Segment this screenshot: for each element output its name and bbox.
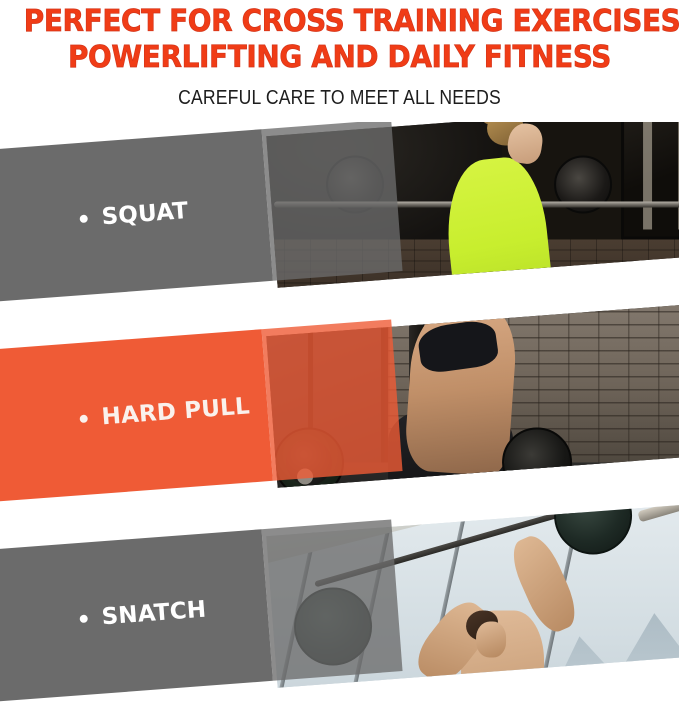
athlete-head-decor	[476, 622, 506, 658]
label-band-squat: SQUAT	[0, 122, 403, 302]
bullet-dot-icon	[79, 415, 88, 424]
feature-row-squat: SQUAT	[0, 122, 679, 322]
label-band-hard-pull: HARD PULL	[0, 319, 403, 501]
bullet-dot-icon	[79, 215, 88, 224]
subheadline: CAREFUL CARE TO MEET ALL NEEDS	[41, 74, 639, 110]
feature-row-hard-pull: HARD PULL	[0, 322, 679, 522]
feature-row-snatch: SNATCH	[0, 522, 679, 722]
athlete-legs-decor	[450, 274, 533, 288]
headline-line-2: POWERLIFTING AND DAILY FITNESS	[24, 38, 655, 74]
header: PERFECT FOR CROSS TRAINING EXERCISES POW…	[0, 0, 679, 122]
feature-rows: SQUAT	[0, 122, 679, 722]
headline-line-1: PERFECT FOR CROSS TRAINING EXERCISES	[24, 0, 655, 38]
band-translucent-fill	[262, 319, 403, 480]
bullet-dot-icon	[79, 615, 88, 624]
gym-window-decor	[621, 122, 679, 239]
band-translucent-fill	[262, 519, 403, 680]
band-translucent-fill	[262, 122, 403, 281]
label-band-snatch: SNATCH	[0, 519, 403, 701]
